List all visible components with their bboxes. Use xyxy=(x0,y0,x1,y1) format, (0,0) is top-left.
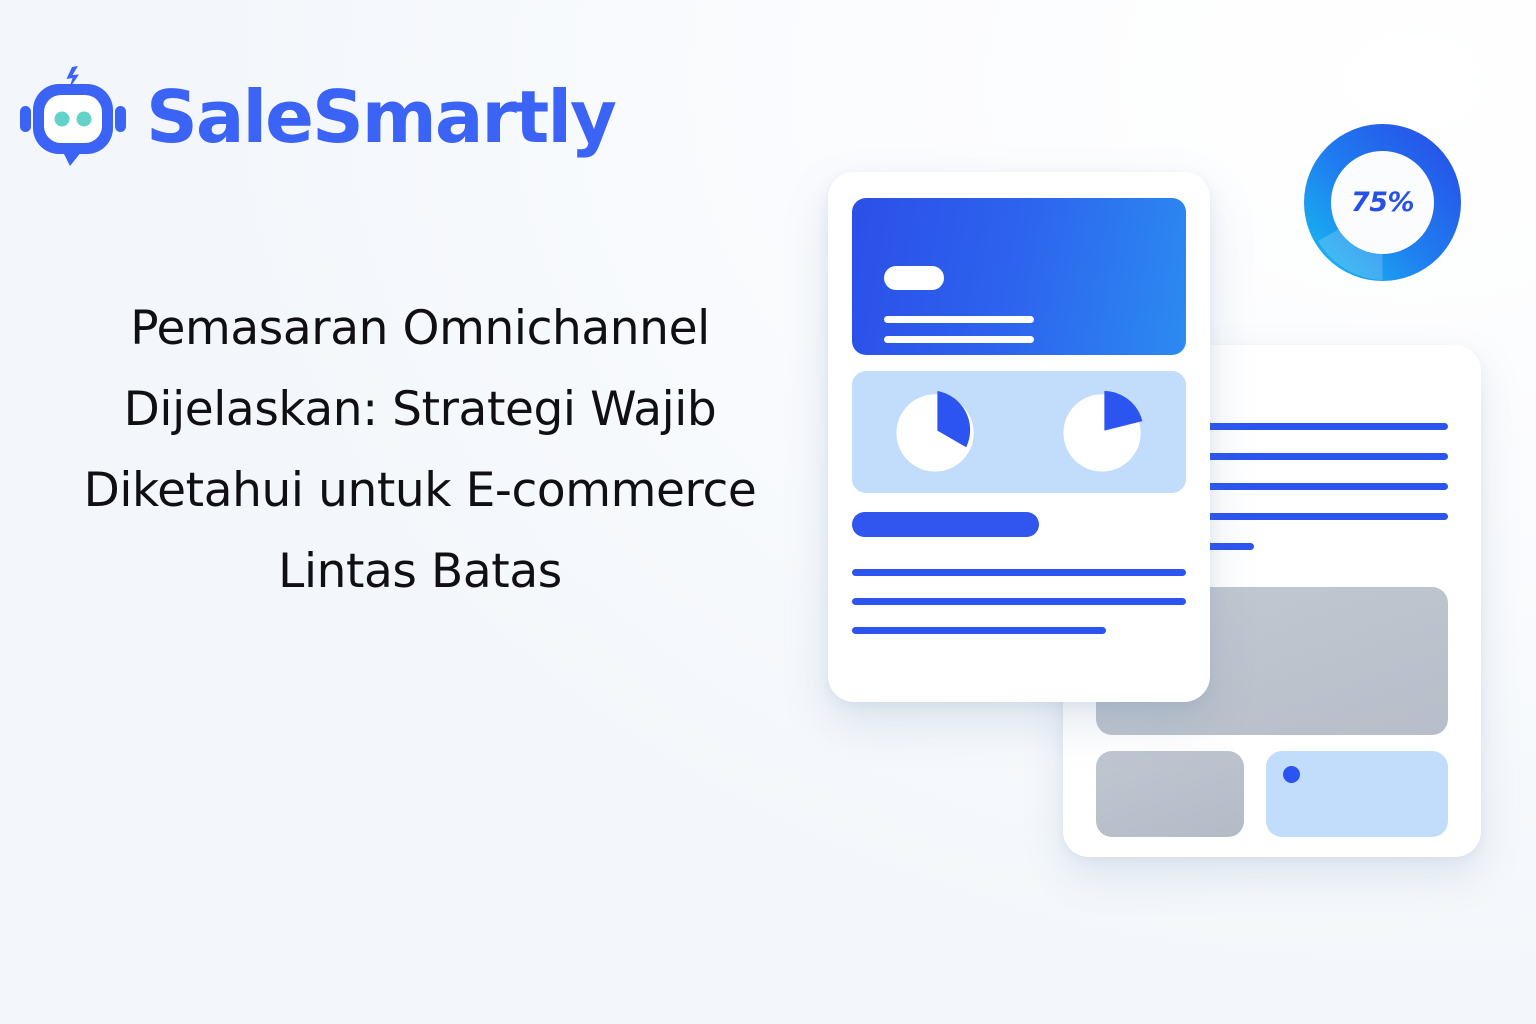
primary-dashboard-card xyxy=(828,172,1210,702)
card-text-lines xyxy=(852,569,1186,656)
pie-chart-left xyxy=(890,386,982,478)
text-line xyxy=(852,598,1186,605)
thumbnail-placeholder-gray xyxy=(1096,751,1244,837)
page-title: Pemasaran Omnichannel Dijelaskan: Strate… xyxy=(40,289,800,612)
header-text-line xyxy=(884,316,1034,323)
donut-value-label: 75% xyxy=(1300,120,1465,285)
brand-lockup: SaleSmartly xyxy=(14,62,615,172)
page-title-line-4: Lintas Batas xyxy=(40,532,800,613)
robot-head-icon xyxy=(14,62,132,172)
card-title-placeholder xyxy=(852,512,1039,537)
promo-banner: SaleSmartly Pemasaran Omnichannel Dijela… xyxy=(0,0,1536,1024)
secondary-card-bottom-row xyxy=(1096,751,1448,837)
pie-chart-right xyxy=(1057,386,1149,478)
card-header-banner xyxy=(852,198,1186,355)
text-line xyxy=(852,569,1186,576)
status-dot-icon xyxy=(1283,766,1300,783)
text-column: SaleSmartly Pemasaran Omnichannel Dijela… xyxy=(0,0,810,1024)
brand-name: SaleSmartly xyxy=(146,81,615,153)
header-badge-placeholder xyxy=(884,266,944,290)
donut-progress-chart: 75% xyxy=(1300,120,1465,285)
page-title-line-2: Dijelaskan: Strategi Wajib xyxy=(40,370,800,451)
thumbnail-placeholder-blue xyxy=(1266,751,1448,837)
header-text-line xyxy=(884,336,1034,343)
text-line xyxy=(852,627,1106,634)
dashboard-illustration: 75% xyxy=(800,110,1536,910)
page-title-line-1: Pemasaran Omnichannel xyxy=(40,289,800,370)
pie-charts-panel xyxy=(852,371,1186,493)
page-title-line-3: Diketahui untuk E-commerce xyxy=(40,451,800,532)
